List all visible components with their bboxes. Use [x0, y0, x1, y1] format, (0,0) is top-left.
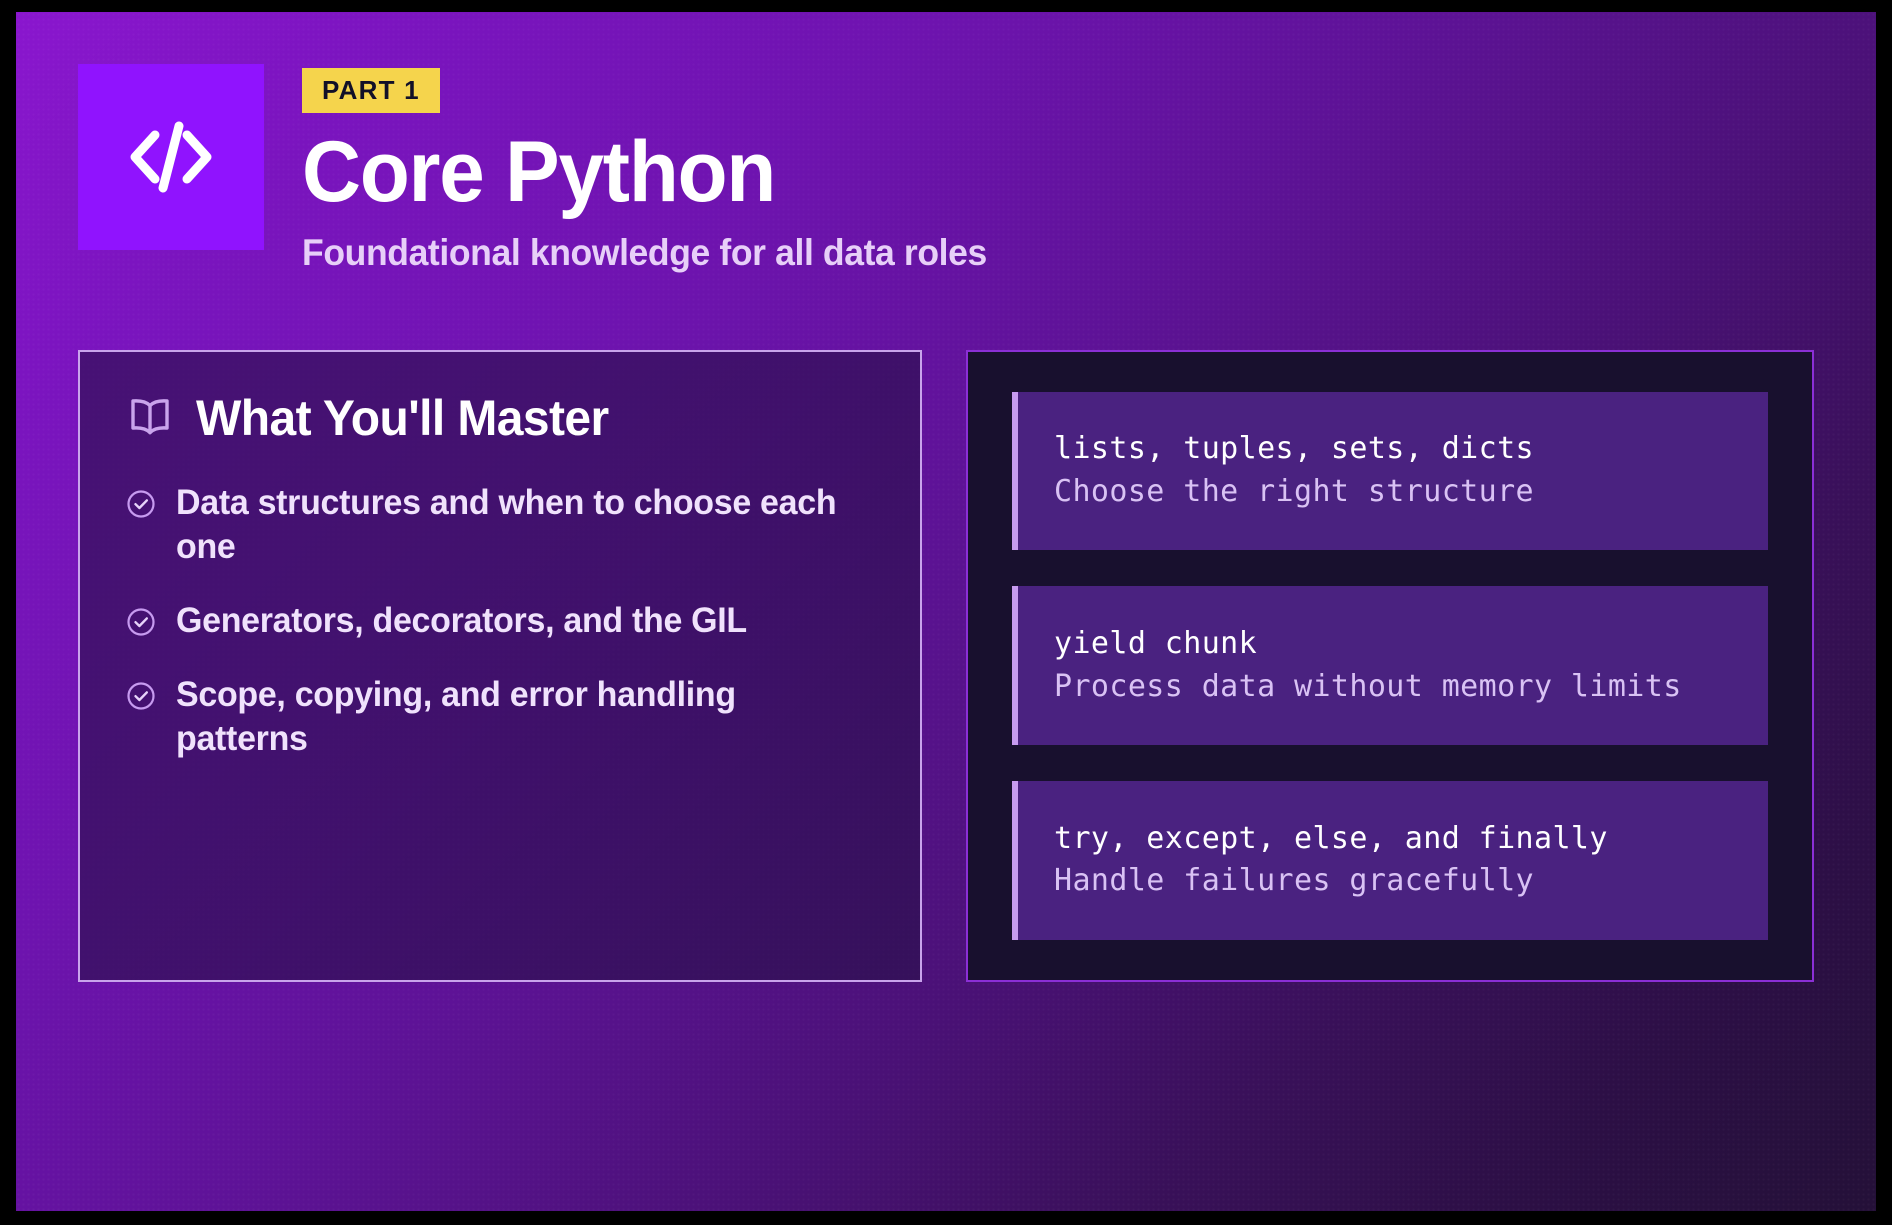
list-item: Data structures and when to choose each … — [126, 481, 874, 569]
page-title: Core Python — [302, 129, 980, 215]
slide-canvas: PART 1 Core Python Foundational knowledg… — [16, 12, 1876, 1211]
code-brackets-logo-tile — [78, 64, 264, 250]
list-item-label: Generators, decorators, and the GIL — [176, 599, 747, 643]
list-item: Generators, decorators, and the GIL — [126, 599, 874, 643]
mastery-list: Data structures and when to choose each … — [126, 481, 874, 761]
code-snippet: yield chunk — [1054, 623, 1734, 666]
code-caption: Handle failures gracefully — [1054, 860, 1734, 903]
list-item-label: Data structures and when to choose each … — [176, 481, 853, 569]
code-snippet: try, except, else, and finally — [1054, 818, 1734, 861]
what-youll-master-card: What You'll Master Data structures and w… — [78, 350, 922, 982]
check-circle-icon — [126, 681, 156, 716]
code-caption: Process data without memory limits — [1054, 666, 1734, 709]
card-header: What You'll Master — [126, 392, 874, 445]
code-examples-panel: lists, tuples, sets, dicts Choose the ri… — [966, 350, 1814, 982]
check-circle-icon — [126, 489, 156, 524]
list-item-label: Scope, copying, and error handling patte… — [176, 673, 853, 761]
part-badge: PART 1 — [302, 68, 440, 113]
code-block: try, except, else, and finally Handle fa… — [1012, 781, 1768, 940]
list-item: Scope, copying, and error handling patte… — [126, 673, 874, 761]
slide-body: What You'll Master Data structures and w… — [78, 350, 1814, 982]
page-subtitle: Foundational knowledge for all data role… — [302, 233, 987, 274]
card-title: What You'll Master — [196, 393, 609, 443]
code-block: lists, tuples, sets, dicts Choose the ri… — [1012, 392, 1768, 551]
code-block: yield chunk Process data without memory … — [1012, 586, 1768, 745]
code-snippet: lists, tuples, sets, dicts — [1054, 428, 1734, 471]
code-brackets-icon — [119, 105, 223, 209]
slide-header: PART 1 Core Python Foundational knowledg… — [78, 64, 1814, 274]
slide-frame: PART 1 Core Python Foundational knowledg… — [0, 0, 1892, 1225]
check-circle-icon — [126, 607, 156, 642]
open-book-icon — [126, 392, 174, 445]
code-caption: Choose the right structure — [1054, 471, 1734, 514]
